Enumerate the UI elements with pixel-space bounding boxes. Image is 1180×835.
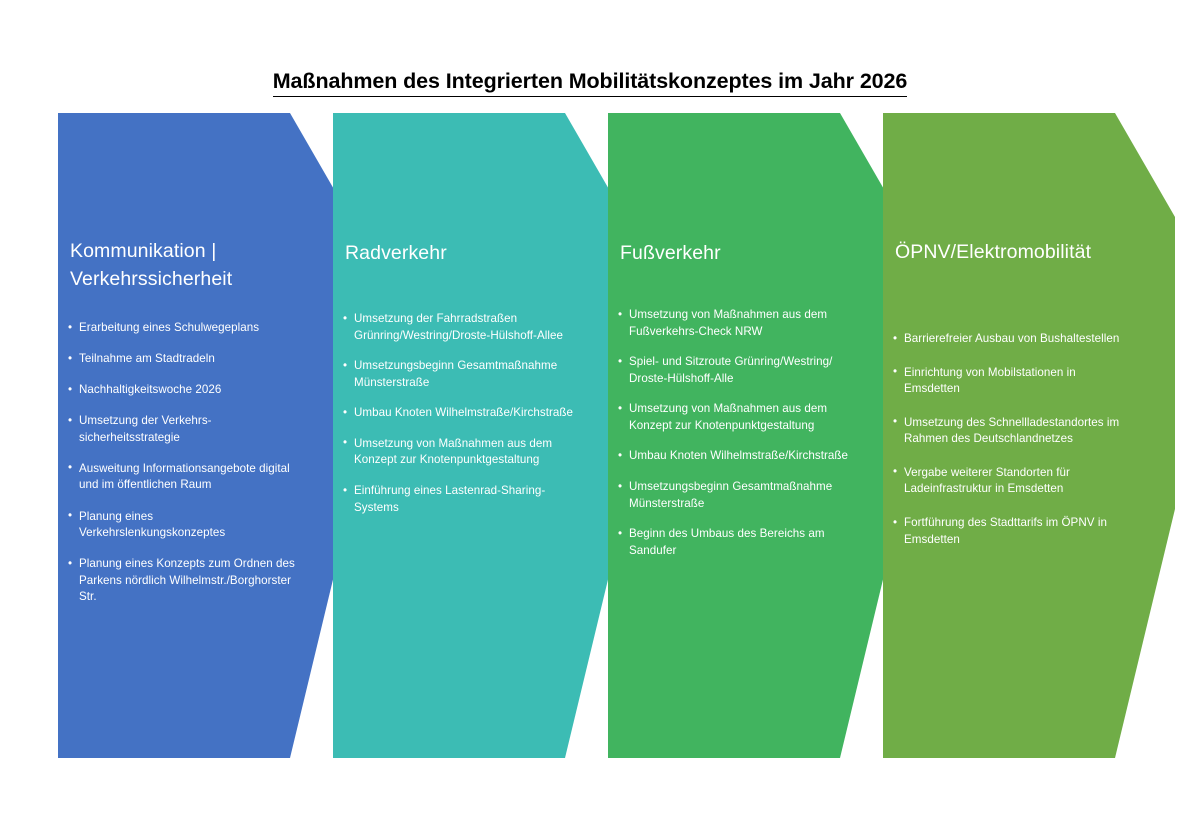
panel-content: ÖPNV/Elektromobilität Barrierefreier Aus…	[883, 113, 1115, 758]
list-item: Erarbeitung eines Schulwegeplans	[68, 320, 298, 337]
panel-bullet-list: Erarbeitung eines Schulwegeplans Teilnah…	[68, 320, 298, 620]
list-item: Umsetzung des Schnellladestandortes im R…	[893, 415, 1133, 448]
panel-heading: Fußverkehr	[620, 239, 842, 267]
panel-content: Fußverkehr Umsetzung von Maßnahmen aus d…	[608, 113, 840, 758]
list-item: Vergabe weiterer Standorten für Ladeinfr…	[893, 465, 1133, 498]
panel-bullet-list: Barrierefreier Ausbau von Bushaltestelle…	[893, 331, 1133, 565]
list-item: Umsetzung der Verkehrs-sicherheitsstrate…	[68, 413, 298, 446]
list-item: Ausweitung Informationsangebote digital …	[68, 461, 298, 494]
list-item: Umsetzungsbeginn Gesamtmaßnahme Münsters…	[618, 479, 850, 512]
list-item: Spiel- und Sitzroute Grünring/Westring/ …	[618, 354, 850, 387]
panel-oepnv-elektromobilitaet: ÖPNV/Elektromobilität Barrierefreier Aus…	[883, 113, 1175, 758]
panel-heading: ÖPNV/Elektromobilität	[895, 238, 1117, 266]
panel-heading-line-1: Fußverkehr	[620, 242, 721, 264]
list-item: Planung eines Verkehrslenkungskonzeptes	[68, 509, 298, 542]
list-item: Nachhaltigkeitswoche 2026	[68, 382, 298, 399]
panel-heading-line-2: Verkehrssicherheit	[70, 268, 232, 290]
panel-heading-line-1: Kommunikation |	[70, 240, 216, 262]
list-item: Einrichtung von Mobilstationen in Emsdet…	[893, 365, 1133, 398]
mobility-concept-infographic: Maßnahmen des Integrierten Mobilitätskon…	[0, 0, 1180, 835]
list-item: Umsetzung von Maßnahmen aus dem Fußverke…	[618, 307, 850, 340]
panel-kommunikation-verkehrssicherheit: Kommunikation | Verkehrssicherheit Erarb…	[58, 113, 350, 758]
page-title-text: Maßnahmen des Integrierten Mobilitätskon…	[273, 69, 908, 97]
panel-content: Radverkehr Umsetzung der Fahrradstraßen …	[333, 113, 565, 758]
list-item: Umsetzung von Maßnahmen aus dem Konzept …	[618, 401, 850, 434]
page-title: Maßnahmen des Integrierten Mobilitätskon…	[0, 69, 1180, 94]
list-item: Planung eines Konzepts zum Ordnen des Pa…	[68, 556, 298, 606]
panel-radverkehr: Radverkehr Umsetzung der Fahrradstraßen …	[333, 113, 625, 758]
panel-heading-line-1: Radverkehr	[345, 242, 447, 264]
panel-fussverkehr: Fußverkehr Umsetzung von Maßnahmen aus d…	[608, 113, 900, 758]
list-item: Einführung eines Lastenrad-Sharing-Syste…	[343, 483, 579, 516]
panel-content: Kommunikation | Verkehrssicherheit Erarb…	[58, 113, 290, 758]
list-item: Fortführung des Stadttarifs im ÖPNV in E…	[893, 515, 1133, 548]
list-item: Umbau Knoten Wilhelmstraße/Kirchstraße	[343, 405, 579, 422]
panel-heading-line-1: ÖPNV/Elektromobilität	[895, 241, 1091, 263]
list-item: Umsetzungsbeginn Gesamtmaßnahme Münsters…	[343, 358, 579, 391]
list-item: Umsetzung von Maßnahmen aus dem Konzept …	[343, 436, 579, 469]
panel-bullet-list: Umsetzung von Maßnahmen aus dem Fußverke…	[618, 307, 850, 573]
panel-heading: Radverkehr	[345, 239, 567, 267]
list-item: Teilnahme am Stadtradeln	[68, 351, 298, 368]
panel-bullet-list: Umsetzung der Fahrradstraßen Grünring/We…	[343, 311, 579, 530]
list-item: Beginn des Umbaus des Bereichs am Sanduf…	[618, 526, 850, 559]
list-item: Umbau Knoten Wilhelmstraße/Kirchstraße	[618, 448, 850, 465]
panel-heading: Kommunikation | Verkehrssicherheit	[70, 237, 292, 294]
list-item: Barrierefreier Ausbau von Bushaltestelle…	[893, 331, 1133, 348]
list-item: Umsetzung der Fahrradstraßen Grünring/We…	[343, 311, 579, 344]
